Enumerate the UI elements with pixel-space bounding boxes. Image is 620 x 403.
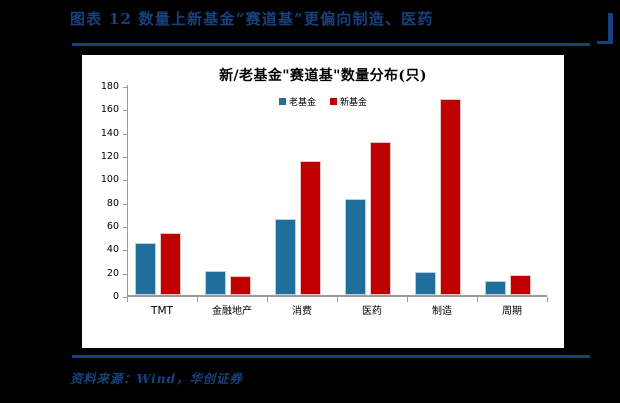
bar-old-funds[interactable]	[345, 199, 366, 295]
bar-group: 制造	[407, 85, 477, 295]
footer-divider-rule	[72, 355, 590, 358]
x-axis-category-label: 医药	[337, 302, 407, 317]
header-divider-rule	[72, 43, 590, 46]
bar-old-funds[interactable]	[485, 281, 506, 295]
y-axis-tick-label: 40	[79, 244, 119, 255]
bar-new-funds[interactable]	[230, 276, 251, 295]
bar-new-funds[interactable]	[160, 233, 181, 295]
bar-new-funds[interactable]	[370, 142, 391, 295]
y-axis-tick-label: 60	[79, 221, 119, 232]
bar-group: 医药	[337, 85, 407, 295]
bar-new-funds[interactable]	[510, 275, 531, 295]
plot-inner: 020406080100120140160180 TMT金融地产消费医药制造周期	[127, 85, 547, 297]
x-axis-tick	[127, 297, 128, 302]
exhibit-title: 图表 12 数量上新基金“赛道基”更偏向制造、医药	[70, 8, 590, 29]
bar-group: 周期	[477, 85, 547, 295]
y-axis-tick-label: 120	[79, 151, 119, 162]
y-axis-tick-label: 20	[79, 268, 119, 279]
bar-old-funds[interactable]	[275, 219, 296, 295]
bar-group: 消费	[267, 85, 337, 295]
y-axis-tick-label: 140	[79, 128, 119, 139]
header-right-corner-mark-tail	[597, 41, 613, 44]
y-axis-tick-label: 80	[79, 198, 119, 209]
header-right-corner-mark	[608, 13, 613, 43]
x-axis-category-label: TMT	[127, 305, 197, 317]
x-axis-category-label: 周期	[477, 302, 547, 317]
bar-old-funds[interactable]	[205, 271, 226, 296]
bar-old-funds[interactable]	[415, 272, 436, 295]
y-axis-tick-label: 160	[79, 104, 119, 115]
x-axis-tick	[547, 297, 548, 302]
source-note: 资料来源：Wind，华创证券	[70, 368, 243, 387]
bar-new-funds[interactable]	[440, 99, 461, 295]
bar-new-funds[interactable]	[300, 161, 321, 295]
y-axis-tick-label: 100	[79, 174, 119, 185]
chart-panel: 新/老基金"赛道基"数量分布(只) 老基金 新基金 02040608010012…	[82, 55, 564, 348]
y-axis-tick-label: 180	[79, 81, 119, 92]
x-axis-category-label: 制造	[407, 302, 477, 317]
chart-title: 新/老基金"赛道基"数量分布(只)	[82, 65, 564, 85]
exhibit-header: 图表 12 数量上新基金“赛道基”更偏向制造、医药	[0, 0, 620, 56]
bar-group: 金融地产	[197, 85, 267, 295]
x-axis-category-label: 金融地产	[197, 302, 267, 317]
y-axis-tick-label: 0	[79, 291, 119, 302]
bar-group: TMT	[127, 85, 197, 295]
plot-area: 020406080100120140160180 TMT金融地产消费医药制造周期	[127, 85, 547, 297]
bar-old-funds[interactable]	[135, 243, 156, 296]
x-axis-category-label: 消费	[267, 302, 337, 317]
